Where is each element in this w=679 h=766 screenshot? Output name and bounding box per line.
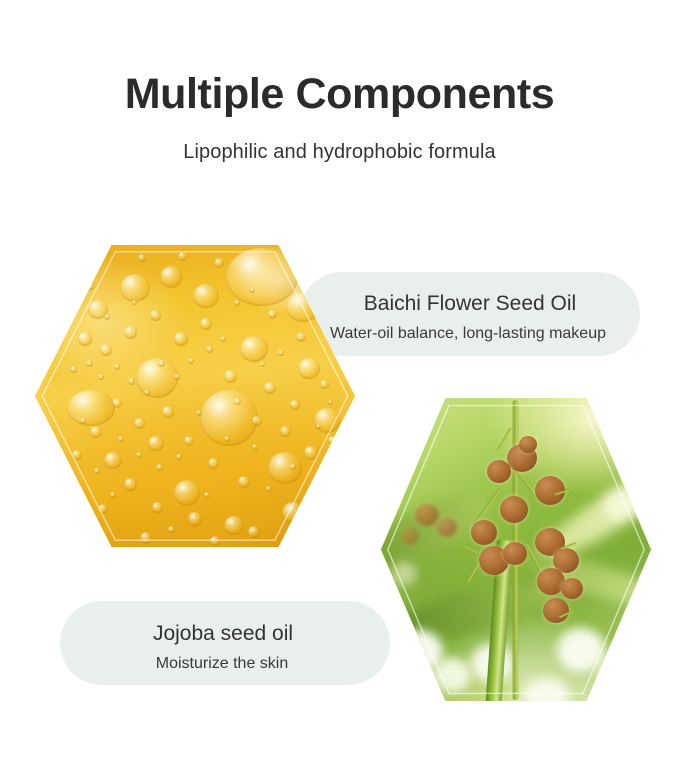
component-benefit-jojoba: Moisturize the skin — [57, 656, 387, 672]
hexagon-clip-plant — [375, 392, 657, 707]
component-label-jojoba-seed-oil: Jojoba seed oil Moisturize the skin — [60, 601, 390, 685]
jojoba-plant-seeds-hexagon-image — [375, 392, 657, 707]
golden-oil-bubbles-hexagon-image — [28, 240, 362, 552]
components-stage: Baichi Flower Seed Oil Water-oil balance… — [0, 0, 679, 766]
hexagon-clip-oil — [28, 240, 362, 552]
component-name-jojoba: Jojoba seed oil — [58, 623, 388, 644]
